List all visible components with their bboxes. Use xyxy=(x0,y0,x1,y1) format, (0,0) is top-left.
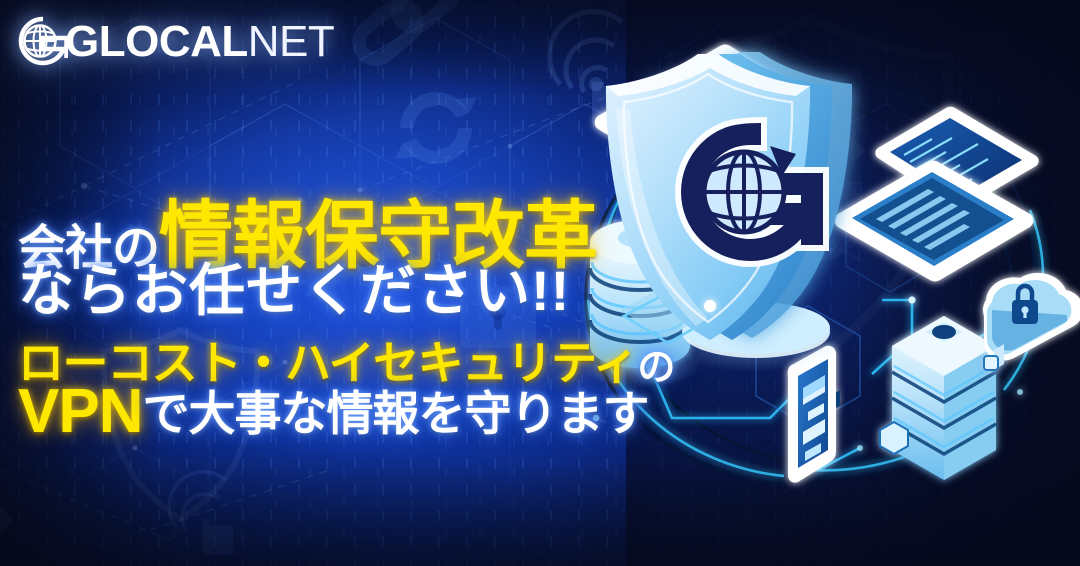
brand-logo-text: GLOCALNET xyxy=(65,20,334,64)
headline-line-4: VPNで大事な情報を守ります xyxy=(18,375,648,447)
hero-banner: GLOCALNET 会社の情報保守改革 ならお任せください!! ローコスト・ハイ… xyxy=(0,0,1080,566)
brand-logo[interactable]: GLOCALNET xyxy=(18,16,334,66)
cloud-storage xyxy=(983,273,1080,370)
headline-line-2: ならお任せください!! xyxy=(18,246,570,327)
brand-logo-text-bold: GLOCAL xyxy=(65,17,248,66)
headline-line-4-white: で大事な情報を守ります xyxy=(142,387,648,440)
headline-copy: 会社の情報保守改革 ならお任せください!! ローコスト・ハイセキュリティの VP… xyxy=(0,0,600,566)
globe-g-icon xyxy=(18,16,68,66)
brand-logo-text-thin: NET xyxy=(248,17,335,66)
security-illustration xyxy=(560,0,1080,566)
headline-line-4-yellow: VPN xyxy=(18,377,142,446)
